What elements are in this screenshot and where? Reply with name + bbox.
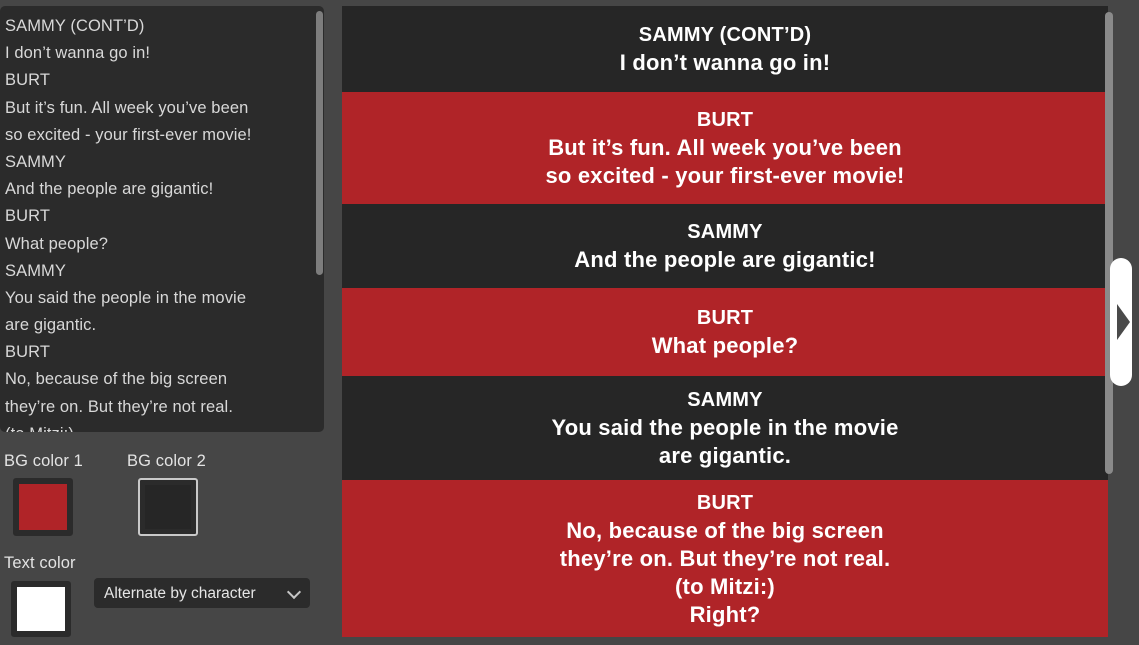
card-line: What people? (652, 332, 799, 360)
bg-color-1-label: BG color 1 (4, 452, 83, 471)
script-line: are gigantic. (5, 312, 312, 339)
script-scrollbar[interactable] (315, 6, 327, 432)
card-speaker: SAMMY (687, 386, 762, 414)
text-color-fill (17, 587, 65, 631)
dialogue-card[interactable]: BURTBut it’s fun. All week you’ve beenso… (342, 92, 1108, 204)
preview-scrollbar-thumb[interactable] (1105, 12, 1113, 474)
card-line: No, because of the big screen (566, 517, 884, 545)
card-speaker: SAMMY (CONT’D) (639, 21, 811, 49)
script-scrollbar-thumb[interactable] (316, 11, 323, 275)
card-line: And the people are gigantic! (574, 246, 875, 274)
bg-color-1-fill (19, 484, 67, 530)
script-line: BURT (5, 67, 312, 94)
script-line: But it’s fun. All week you’ve been (5, 95, 312, 122)
script-line: BURT (5, 339, 312, 366)
color-mode-select[interactable]: Alternate by characterAlternate by lineS… (94, 578, 310, 608)
script-line: so excited - your first-ever movie! (5, 122, 312, 149)
chevron-right-icon (1117, 304, 1130, 340)
script-line: No, because of the big screen (5, 366, 312, 393)
card-line: so excited - your first-ever movie! (545, 162, 904, 190)
card-speaker: BURT (697, 489, 753, 517)
card-speaker: SAMMY (687, 218, 762, 246)
card-line: are gigantic. (659, 442, 791, 470)
dialogue-card[interactable]: SAMMY (CONT’D)I don’t wanna go in! (342, 6, 1108, 92)
script-line: SAMMY (5, 149, 312, 176)
script-line: You said the people in the movie (5, 285, 312, 312)
script-line: I don’t wanna go in! (5, 40, 312, 67)
script-line: And the people are gigantic! (5, 176, 312, 203)
bg-color-2-label: BG color 2 (127, 452, 206, 471)
bg-color-2-swatch[interactable] (138, 478, 198, 536)
text-color-label: Text color (4, 554, 76, 573)
script-text-content: SAMMY (CONT’D)I don’t wanna go in!BURTBu… (5, 13, 312, 432)
script-line: SAMMY (5, 258, 312, 285)
script-line: (to Mitzi:) (5, 421, 312, 432)
card-list: SAMMY (CONT’D)I don’t wanna go in!BURTBu… (342, 6, 1108, 637)
card-speaker: BURT (697, 304, 753, 332)
next-button[interactable] (1110, 258, 1132, 386)
dialogue-card[interactable]: SAMMYYou said the people in the movieare… (342, 376, 1108, 480)
bg-color-2-fill (145, 485, 191, 529)
card-line: I don’t wanna go in! (620, 49, 831, 77)
editor-panel: SAMMY (CONT’D)I don’t wanna go in!BURTBu… (0, 0, 332, 645)
dialogue-card[interactable]: BURTWhat people? (342, 288, 1108, 376)
script-line: SAMMY (CONT’D) (5, 13, 312, 40)
script-line: BURT (5, 203, 312, 230)
bg-color-1-swatch[interactable] (13, 478, 73, 536)
card-line: they’re on. But they’re not real. (560, 545, 891, 573)
card-line: You said the people in the movie (551, 414, 898, 442)
script-line: they’re on. But they’re not real. (5, 394, 312, 421)
script-input[interactable]: SAMMY (CONT’D)I don’t wanna go in!BURTBu… (0, 6, 324, 432)
card-line: But it’s fun. All week you’ve been (548, 134, 902, 162)
card-preview-panel: SAMMY (CONT’D)I don’t wanna go in!BURTBu… (342, 6, 1108, 637)
dialogue-card[interactable]: BURTNo, because of the big screenthey’re… (342, 480, 1108, 637)
dialogue-card[interactable]: SAMMYAnd the people are gigantic! (342, 204, 1108, 288)
script-line: What people? (5, 231, 312, 258)
card-speaker: BURT (697, 106, 753, 134)
card-line: Right? (690, 601, 761, 629)
card-line: (to Mitzi:) (675, 573, 775, 601)
app-root: SAMMY (CONT’D)I don’t wanna go in!BURTBu… (0, 0, 1139, 645)
text-color-swatch[interactable] (11, 581, 71, 637)
